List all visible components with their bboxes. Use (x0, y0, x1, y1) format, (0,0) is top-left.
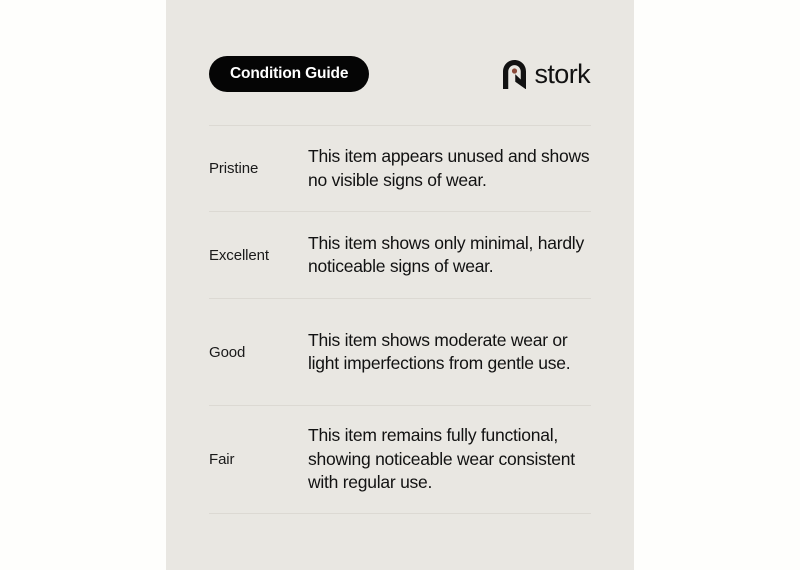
table-row: Excellent This item shows only minimal, … (209, 212, 591, 298)
condition-description: This item shows only minimal, hardly not… (308, 232, 591, 279)
condition-description: This item appears unused and shows no vi… (308, 145, 591, 192)
condition-guide-card: Condition Guide stork Pristine This item… (166, 0, 634, 570)
card-header: Condition Guide stork (209, 55, 591, 93)
page-root: Condition Guide stork Pristine This item… (0, 0, 800, 570)
table-row: Good This item shows moderate wear or li… (209, 299, 591, 405)
brand-name: stork (534, 61, 590, 88)
table-row: Pristine This item appears unused and sh… (209, 126, 591, 211)
table-divider (209, 513, 591, 514)
brand-logo: stork (502, 59, 591, 90)
condition-label: Fair (209, 451, 308, 468)
condition-label: Excellent (209, 247, 308, 264)
condition-label: Good (209, 344, 308, 361)
condition-description: This item shows moderate wear or light i… (308, 329, 591, 376)
stork-arch-logo-icon (502, 59, 527, 90)
condition-description: This item remains fully functional, show… (308, 424, 591, 495)
condition-label: Pristine (209, 160, 308, 177)
condition-guide-badge: Condition Guide (209, 56, 369, 92)
table-row: Fair This item remains fully functional,… (209, 406, 591, 513)
condition-table: Pristine This item appears unused and sh… (209, 125, 591, 514)
